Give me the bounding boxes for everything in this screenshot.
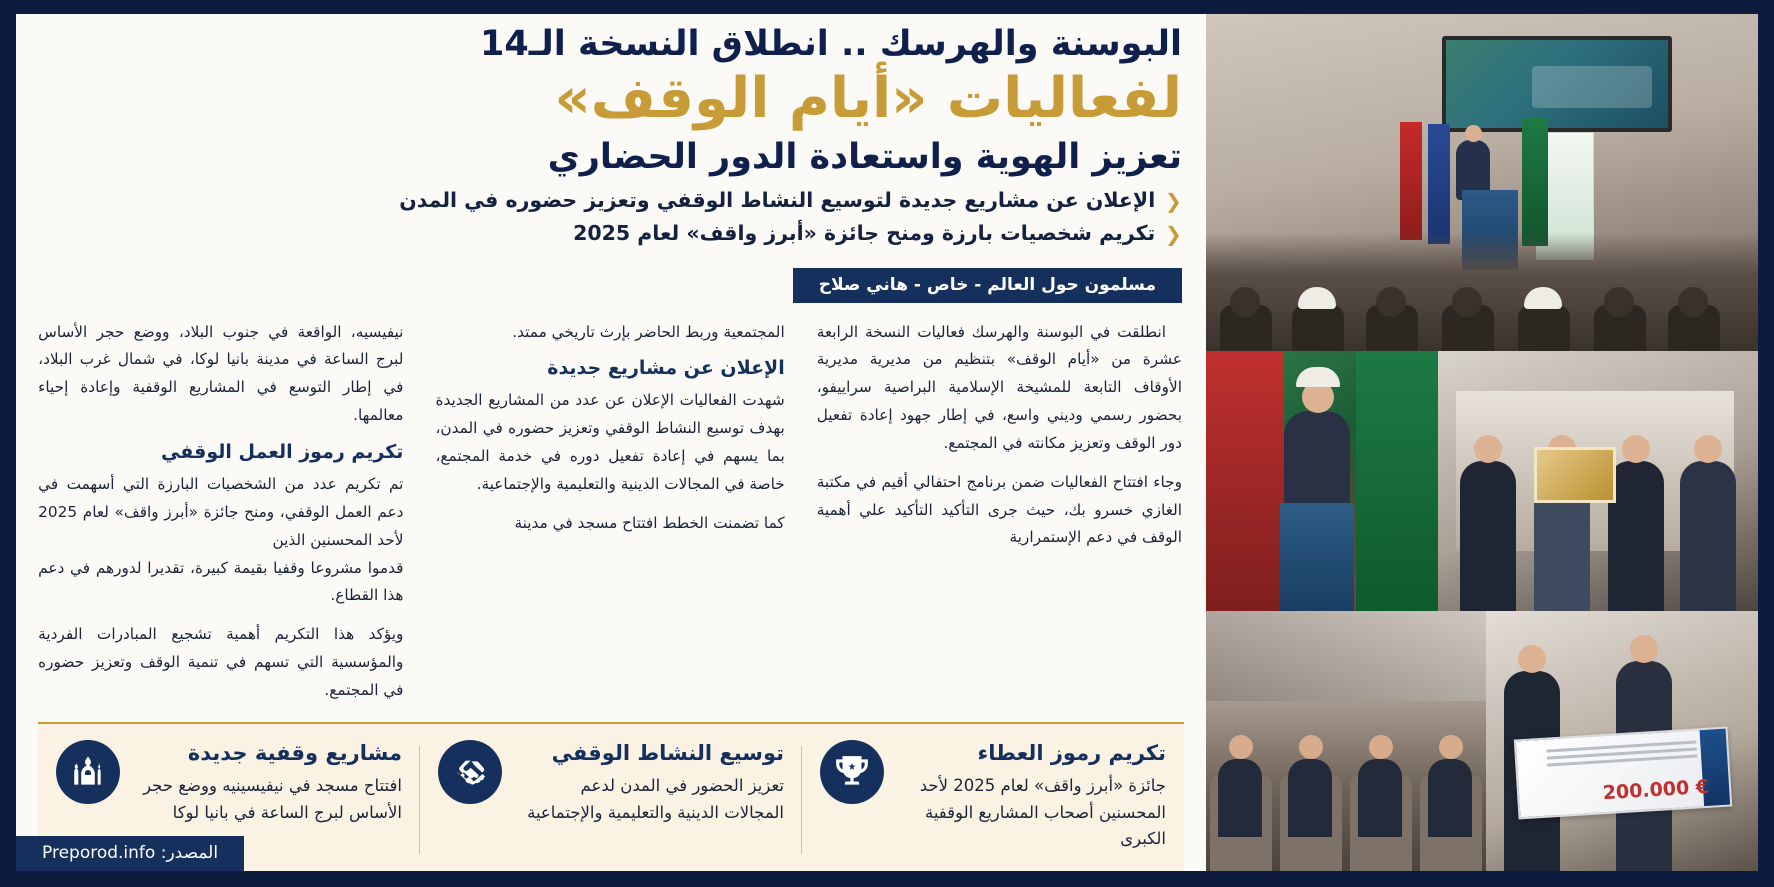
photo-attendees-seated [1206,611,1486,871]
infographic-page: البوسنة والهرسك .. انطلاق النسخة الـ14 ل… [0,0,1774,887]
paragraph: كما تضمنت الخطط افتتاح مسجد في مدينة [435,510,784,538]
photo-mosaic: 200.000 € [1206,14,1758,871]
photo-row-upper [1206,351,1758,611]
mosque-icon [56,740,120,804]
flag-green [1522,118,1548,246]
highlight-card-expansion: توسيع النشاط الوقفي تعزيز الحضور في المد… [420,740,802,827]
bullet-text: تكريم شخصيات بارزة ومنح جائزة «أبرز واقف… [573,221,1155,247]
headline-block: البوسنة والهرسك .. انطلاق النسخة الـ14 ل… [16,14,1206,178]
article-column-left: نيفيسيه، الواقعة في جنوب البلاد، ووضع حج… [38,319,419,555]
editorial-column: البوسنة والهرسك .. انطلاق النسخة الـ14 ل… [16,14,1206,871]
bullet-item: ❯ تكريم شخصيات بارزة ومنح جائزة «أبرز وا… [26,221,1182,247]
article-column-right: انطلقت في البوسنة والهرسك فعاليات النسخة… [801,319,1182,555]
infographic-canvas: البوسنة والهرسك .. انطلاق النسخة الـ14 ل… [16,14,1758,871]
highlight-text: توسيع النشاط الوقفي تعزيز الحضور في المد… [518,740,784,827]
highlight-description: تعزيز الحضور في المدن لدعم المجالات الدي… [518,773,784,826]
flag-turkey [1400,122,1422,240]
photo-row-lower: 200.000 € [1206,611,1758,871]
byline-bar: مسلمون حول العالم - خاص - هاني صلاح [793,268,1182,303]
photo-cheque-handover: 200.000 € [1486,611,1758,871]
highlight-text: مشاريع وقفية جديدة افتتاح مسجد في نيفيسي… [136,740,402,827]
photo-speaker-flags [1206,351,1438,611]
cheque-lines [1546,740,1697,770]
paragraph-lead: المجتمعية وربط الحاضر بإرث تاريخي ممتد. [435,319,784,347]
byline-wrapper: مسلمون حول العالم - خاص - هاني صلاح [16,268,1206,303]
article-body-continued: قدموا مشروعا وقفيا بقيمة كبيرة، تقديرا ل… [16,555,1206,716]
kicker-line: البوسنة والهرسك .. انطلاق النسخة الـ14 [26,24,1182,65]
paragraph-lead: نيفيسيه، الواقعة في جنوب البلاد، ووضع حج… [38,319,403,430]
photo-award-ceremony [1438,351,1758,611]
article-column-spacer-2 [419,555,800,716]
trophy-icon [820,740,884,804]
sub-headline: تعزيز الهوية واستعادة الدور الحضاري [26,136,1182,178]
highlight-text: تكريم رموز العطاء جائزة «أبرز واقف» لعام… [900,740,1166,853]
audience-rows [1206,233,1758,351]
article-column-spacer [801,555,1182,716]
highlight-title: مشاريع وقفية جديدة [136,740,402,766]
donation-cheque: 200.000 € [1514,727,1732,820]
flag-bosnia [1428,124,1450,244]
bullet-item: ❯ الإعلان عن مشاريع جديدة لتوسيع النشاط … [26,188,1182,214]
paragraph: تم تكريم عدد من الشخصيات البارزة التي أس… [38,471,403,554]
chevron-left-icon: ❯ [1165,224,1182,244]
article-body: انطلقت في البوسنة والهرسك فعاليات النسخة… [16,303,1206,555]
speaker-with-turban [1284,411,1350,511]
main-headline: لفعاليات «أيام الوقف» [26,67,1182,132]
highlight-title: توسيع النشاط الوقفي [518,740,784,766]
handshake-icon [438,740,502,804]
photo-conference-hall [1206,14,1758,351]
chevron-left-icon: ❯ [1165,191,1182,211]
paragraph: قدموا مشروعا وقفيا بقيمة كبيرة، تقديرا ل… [38,555,403,611]
bullet-list: ❯ الإعلان عن مشاريع جديدة لتوسيع النشاط … [16,188,1206,253]
paragraph: وجاء افتتاح الفعاليات ضمن برنامج احتفالي… [817,469,1182,552]
article-column-far-left: قدموا مشروعا وقفيا بقيمة كبيرة، تقديرا ل… [38,555,419,716]
source-bar: المصدر: Preporod.info [16,836,244,871]
paragraph: شهدت الفعاليات الإعلان عن عدد من المشاري… [435,387,784,498]
podium-blue [1280,503,1354,611]
presentation-screen [1442,36,1672,132]
seating-rows [1206,701,1486,871]
paragraph: انطلقت في البوسنة والهرسك فعاليات النسخة… [817,319,1182,458]
flag-green-large [1356,351,1438,611]
section-heading: الإعلان عن مشاريع جديدة [435,357,784,379]
cheque-amount: 200.000 € [1602,776,1710,804]
section-heading: تكريم رموز العمل الوقفي [38,441,403,463]
paragraph: ويؤكد هذا التكريم أهمية تشجيع المبادرات … [38,621,403,704]
highlight-description: افتتاح مسجد في نيفيسينيه ووضع حجر الأساس… [136,773,402,826]
highlight-card-projects: مشاريع وقفية جديدة افتتاح مسجد في نيفيسي… [38,740,420,827]
bullet-text: الإعلان عن مشاريع جديدة لتوسيع النشاط ال… [399,188,1155,214]
flag-turkey-large [1206,351,1284,611]
highlight-card-award: تكريم رموز العطاء جائزة «أبرز واقف» لعام… [802,740,1184,853]
certificate [1534,447,1616,503]
article-column-middle: المجتمعية وربط الحاضر بإرث تاريخي ممتد. … [419,319,800,555]
highlight-title: تكريم رموز العطاء [900,740,1166,766]
highlight-description: جائزة «أبرز واقف» لعام 2025 لأحد المحسني… [900,773,1166,853]
